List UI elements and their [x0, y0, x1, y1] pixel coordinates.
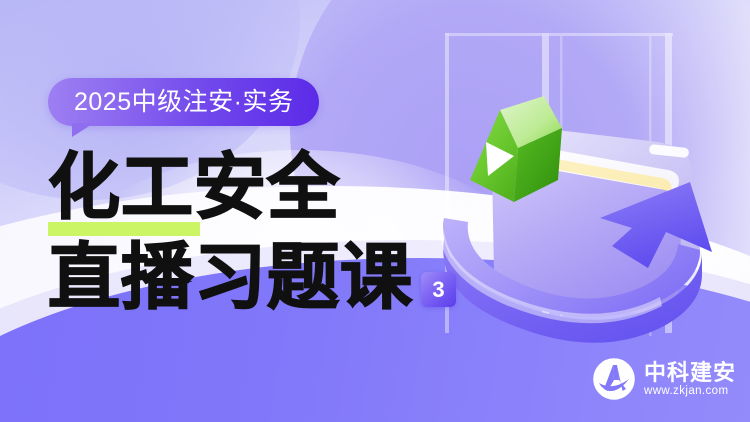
brand-name: 中科建安	[644, 361, 736, 384]
zkjan-circle-logo-icon	[593, 358, 635, 400]
pill-tail-icon	[72, 123, 94, 137]
brand-logo: 中科建安 www.zkjan.com	[593, 358, 736, 400]
episode-number-badge: 3	[421, 272, 456, 307]
headline-line-2: 直播习题课 3	[48, 242, 456, 314]
headline-block: 化工安全 直播习题课 3	[48, 152, 456, 314]
headline-line-1: 化工安全	[48, 152, 456, 228]
course-category-badge: 2025中级注安·实务	[48, 78, 319, 126]
course-category-label: 2025中级注安·实务	[74, 90, 293, 115]
course-category-pill: 2025中级注安·实务	[48, 78, 319, 126]
brand-url: www.zkjan.com	[644, 386, 736, 398]
brand-logo-text: 中科建安 www.zkjan.com	[644, 361, 736, 398]
headline-title-sub: 直播习题课	[48, 242, 413, 314]
course-promo-banner: 2025中级注安·实务 化工安全 直播习题课 3 中科建安 www.zkja	[0, 0, 750, 422]
episode-number-label: 3	[432, 279, 444, 301]
headline-title-main: 化工安全	[48, 152, 340, 224]
